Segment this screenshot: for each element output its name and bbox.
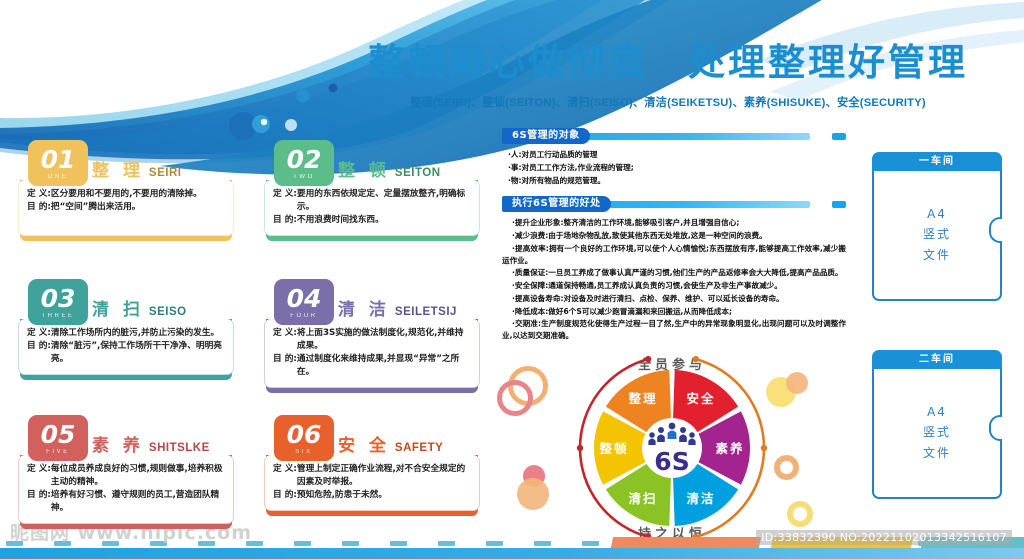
wheel-segment-label: 整顿: [599, 441, 628, 456]
card-aim: 目 的:不用浪费时间找东西。: [273, 214, 471, 227]
card-aim-label: 目 的:: [27, 489, 51, 515]
card-title-en: SEIRI: [149, 167, 182, 179]
section2-title: 执行6S管理的好处: [502, 196, 611, 212]
holder-2-notch-icon: [989, 415, 1002, 441]
card-aim-label: 目 的:: [273, 214, 297, 227]
holder-2-label: 二车间: [872, 350, 1002, 369]
card-body: 定 义:每位成员养成良好的习惯,规则做事,培养积极主动的精神。目 的:培养有好习…: [18, 455, 234, 524]
footer-dash: [486, 541, 503, 546]
card-number-word: SIX: [295, 449, 312, 455]
card-aim: 目 的:培养有好习惯、遵守规则的员工,营造团队精神。: [27, 489, 225, 515]
card-number-badge: 03THREE: [28, 279, 88, 325]
card-body: 定 义:要用的东西依规定定、定量摆放整齐,明确标示。目 的:不用浪费时间找东西。: [264, 180, 480, 236]
card-title-cn: 素 养: [92, 431, 144, 456]
section1-line-0: ·人:对员工行动品质的管理: [502, 149, 846, 161]
footer-seg-orange: [611, 537, 761, 548]
section2-line-7: ·交期准:生产制度规范化使得生产过程一目了然,生产中的异常现象明显化,出现问题可…: [502, 318, 846, 342]
holder-1-line-3: 文件: [923, 246, 951, 263]
card-number-word: THREE: [41, 313, 74, 319]
holder-1-label: 一车间: [872, 152, 1002, 171]
card-definition: 定 义:清除工作场所内的脏污,并防止污染的发生。: [27, 327, 225, 340]
document-holder-2[interactable]: 二车间 A4 竖式 文件: [872, 350, 1002, 499]
card-aim-label: 目 的:: [27, 340, 51, 366]
section2-line-2: ·提高效率:拥有一个良好的工作环境,可以使个人心情愉悦;东西摆放有序,能够提高工…: [502, 243, 846, 267]
card-title-cn: 安 全: [338, 431, 390, 456]
card-title-cn: 整 顿: [338, 156, 390, 181]
card-number-word: ONE: [48, 174, 69, 180]
wheel-arc-dot: [761, 445, 767, 451]
card-body: 定 义:管理上制定正确作业流程,对不合安全规定的因素及时举报。目 的:预知危险,…: [264, 455, 480, 511]
card-title-row: 整 顿SEITON: [338, 156, 441, 181]
footer-dash: [582, 541, 599, 546]
card-title-row: 安 全SAFETY: [338, 431, 443, 456]
card-definition: 定 义:管理上制定正确作业流程,对不合安全规定的因素及时举报。: [273, 463, 471, 489]
card-aim-label: 目 的:: [273, 353, 297, 379]
card-number: 05: [41, 422, 76, 447]
footer-dash: [390, 541, 407, 546]
holder-1-line-1: A4: [927, 207, 947, 221]
wheel-segment-label: 安全: [686, 391, 715, 406]
card-title-en: SEITON: [395, 167, 441, 179]
wheel-segment-label: 清扫: [628, 491, 657, 506]
section-6s-objects: 6S管理的对象 ·人:对员工行动品质的管理·事:对员工工作方法,作业流程的管理;…: [502, 128, 846, 186]
card-number: 04: [287, 286, 322, 311]
card-title-cn: 清 洁: [338, 295, 390, 320]
card-definition-text: 每位成员养成良好的习惯,规则做事,培养积极主动的精神。: [51, 463, 225, 489]
card-title-row: 整 理SEIRI: [92, 156, 181, 181]
card-number-word: FIVE: [46, 449, 70, 455]
card-number-badge: 05FIVE: [28, 415, 88, 461]
card-number-word: TWO: [293, 174, 315, 180]
card-aim-text: 把“空间”腾出来活用。: [51, 201, 225, 214]
holder-2-line-1: A4: [927, 405, 947, 419]
section2-line-3: ·质量保证:一旦员工养成了做事认真严谨的习惯,他们生产的产品返修率会大大降低,提…: [502, 267, 846, 279]
card-definition-label: 定 义:: [273, 463, 297, 489]
footer-dash: [294, 541, 311, 546]
holder-2-line-2: 竖式: [923, 423, 951, 440]
holder-1-pocket: A4 竖式 文件: [872, 171, 1002, 301]
holder-2-line-3: 文件: [923, 444, 951, 461]
card-aim-label: 目 的:: [273, 489, 297, 502]
card-body: 定 义:清除工作场所内的脏污,并防止污染的发生。目 的:清除“脏污”,保持工作场…: [18, 319, 234, 375]
card-body: 定 义:区分要用和不要用的,不要用的清除掉。目 的:把“空间”腾出来活用。: [18, 180, 234, 236]
section2-line-1: ·减少浪费:由于场地杂物乱放,致使其他东西无处堆放,这是一种空间的浪费。: [502, 230, 846, 242]
card-aim-text: 预知危险,防患于未然。: [297, 489, 471, 502]
section2-line-6: ·降低成本:做好6个S可以减少跑冒滴漏和来回搬运,从而降低成本;: [502, 306, 846, 318]
wheel-center-text: 6S: [654, 447, 689, 476]
section1-title: 6S管理的对象: [502, 128, 590, 144]
card-number-badge: 06SIX: [274, 415, 334, 461]
poster-canvas: 整顿用心做彻底 处理整理好管理 整理(SEIRI)、整顿(SEITON)、清扫(…: [0, 0, 1024, 559]
holder-1-notch-icon: [989, 217, 1002, 243]
card-definition: 定 义:要用的东西依规定定、定量摆放整齐,明确标示。: [273, 188, 471, 214]
section-6s-benefits: 执行6S管理的好处 ·提升企业形象:整齐清洁的工作环境,能够吸引客户,并且增强自…: [502, 196, 846, 342]
image-id-tag: ID:33832390 NO:20221102013342516107: [756, 530, 1012, 545]
poster-header: 整顿用心做彻底 处理整理好管理 整理(SEIRI)、整顿(SEITON)、清扫(…: [358, 42, 978, 110]
card-title-en: SHITSLKE: [149, 442, 210, 454]
footer-dash: [534, 541, 551, 546]
wheel-arc-dot: [693, 356, 699, 362]
card-title-row: 素 养SHITSLKE: [92, 431, 210, 456]
page-subtitle: 整理(SEIRI)、整顿(SEITON)、清扫(SEISO)、清洁(SEIKET…: [358, 94, 978, 110]
card-title-cn: 清 扫: [92, 295, 144, 320]
section2-body: ·提升企业形象:整齐清洁的工作环境,能够吸引客户,并且增强自信心;·减少浪费:由…: [502, 217, 846, 342]
card-number: 03: [41, 286, 76, 311]
card-definition: 定 义:每位成员养成良好的习惯,规则做事,培养积极主动的精神。: [27, 463, 225, 489]
card-aim-label: 目 的:: [27, 201, 51, 214]
card-definition-text: 要用的东西依规定定、定量摆放整齐,明确标示。: [297, 188, 471, 214]
card-aim-text: 清除“脏污”,保持工作场所干干净净、明明亮亮。: [51, 340, 225, 366]
footer-dash: [342, 541, 359, 546]
section-header-bar-2: 执行6S管理的好处: [502, 196, 846, 212]
card-title-en: SAFETY: [395, 442, 443, 454]
wheel-segment-label: 素养: [715, 441, 744, 456]
document-holder-1[interactable]: 一车间 A4 竖式 文件: [872, 152, 1002, 301]
holder-2-pocket: A4 竖式 文件: [872, 369, 1002, 499]
six-s-wheel-diagram: 全员参与 持之以恒 整理安全素养清洁清扫整顿6S: [536, 352, 808, 542]
section2-line-4: ·安全保障:通道保持畅通,员工养成认真负责的习惯,会使生产及非生产事故减少。: [502, 280, 846, 292]
card-definition-text: 管理上制定正确作业流程,对不合安全规定的因素及时举报。: [297, 463, 471, 489]
card-number: 01: [41, 147, 76, 172]
card-aim-text: 培养有好习惯、遵守规则的员工,营造团队精神。: [51, 489, 225, 515]
card-aim-text: 通过制度化来维持成果,并显现“异常”之所在。: [297, 353, 471, 379]
card-number: 06: [287, 422, 322, 447]
card-aim: 目 的:通过制度化来维持成果,并显现“异常”之所在。: [273, 353, 471, 379]
section2-line-5: ·提高设备寿命:对设备及时进行清扫、点检、保养、维护、可以延长设备的寿命。: [502, 293, 846, 305]
card-aim: 目 的:把“空间”腾出来活用。: [27, 201, 225, 214]
card-number-word: FOUR: [290, 313, 317, 319]
card-title-row: 清 洁SEILETSIJ: [338, 295, 457, 320]
card-definition-label: 定 义:: [273, 188, 297, 214]
card-definition-label: 定 义:: [27, 327, 51, 340]
section1-line-2: ·物:对所有物品的规范管理。: [502, 175, 846, 187]
section2-line-0: ·提升企业形象:整齐清洁的工作环境,能够吸引客户,并且增强自信心;: [502, 217, 846, 229]
wheel-segment-label: 整理: [628, 391, 657, 406]
holder-1-line-2: 竖式: [923, 225, 951, 242]
section-rail-cap-2: [832, 201, 846, 208]
card-definition: 定 义:区分要用和不要用的,不要用的清除掉。: [27, 188, 225, 201]
section-rail-cap: [832, 133, 846, 140]
card-number-badge: 01ONE: [28, 140, 88, 186]
card-aim: 目 的:清除“脏污”,保持工作场所干干净净、明明亮亮。: [27, 340, 225, 366]
page-title: 整顿用心做彻底 处理整理好管理: [358, 42, 978, 85]
card-definition-text: 将上面3S实施的做法制度化,规范化,并维持成果。: [297, 327, 471, 353]
card-number-badge: 04FOUR: [274, 279, 334, 325]
card-title-en: SEISO: [149, 306, 187, 318]
middle-text-panel: 6S管理的对象 ·人:对员工行动品质的管理·事:对员工工作方法,作业流程的管理;…: [502, 128, 846, 352]
footer-bar: 昵图网 www.nipic.com ID:33832390 NO:2022110…: [0, 537, 1024, 559]
wheel-segment-label: 清洁: [686, 491, 715, 506]
card-title-en: SEILETSIJ: [395, 306, 457, 318]
section1-line-1: ·事:对员工工作方法,作业流程的管理;: [502, 162, 846, 174]
card-number-badge: 02TWO: [274, 140, 334, 186]
footer-dash: [438, 541, 455, 546]
section1-body: ·人:对员工行动品质的管理·事:对员工工作方法,作业流程的管理;·物:对所有物品…: [502, 149, 846, 186]
footer-blue-band: [0, 548, 1024, 559]
card-definition-label: 定 义:: [273, 327, 297, 353]
card-definition-text: 清除工作场所内的脏污,并防止污染的发生。: [51, 327, 225, 340]
wheel-arc-dot: [577, 445, 583, 451]
section-header-bar: 6S管理的对象: [502, 128, 846, 144]
card-definition-label: 定 义:: [27, 463, 51, 489]
card-definition-label: 定 义:: [27, 188, 51, 201]
card-definition: 定 义:将上面3S实施的做法制度化,规范化,并维持成果。: [273, 327, 471, 353]
card-title-cn: 整 理: [92, 156, 144, 181]
card-title-row: 清 扫SEISO: [92, 295, 187, 320]
card-body: 定 义:将上面3S实施的做法制度化,规范化,并维持成果。目 的:通过制度化来维持…: [264, 319, 480, 388]
wheel-arc-dot: [645, 356, 651, 362]
card-aim: 目 的:预知危险,防患于未然。: [273, 489, 471, 502]
card-definition-text: 区分要用和不要用的,不要用的清除掉。: [51, 188, 225, 201]
card-aim-text: 不用浪费时间找东西。: [297, 214, 471, 227]
people-group-icon: [648, 423, 695, 445]
card-number: 02: [287, 147, 322, 172]
